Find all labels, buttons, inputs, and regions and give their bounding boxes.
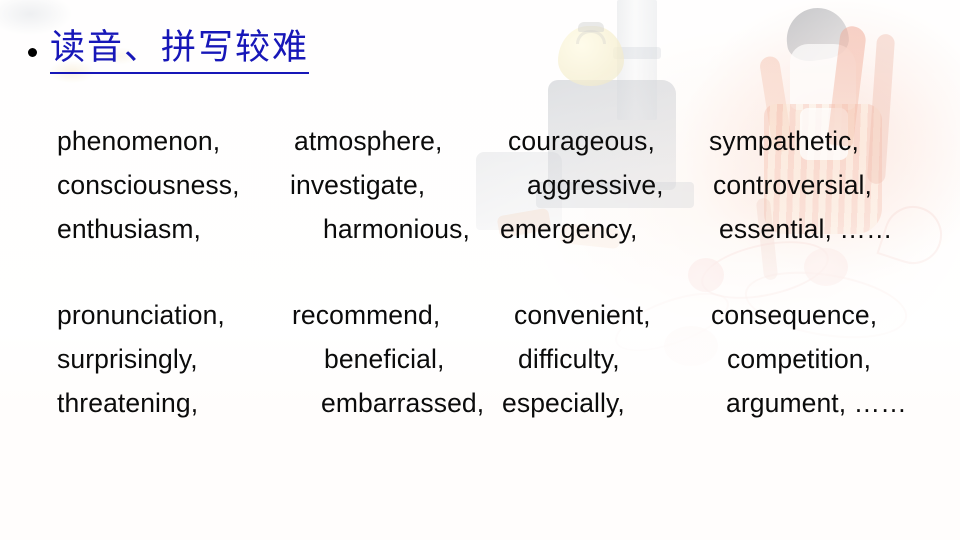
slide-heading: 读音、拼写较难	[28, 26, 309, 74]
vocab-word: pronunciation,	[57, 300, 290, 331]
person-hair-shape	[783, 4, 852, 64]
vocab-word: convenient,	[500, 300, 705, 331]
vocab-word: recommend,	[290, 300, 500, 331]
kettle-shape	[558, 26, 624, 86]
word-group-2: pronunciation, recommend, convenient, co…	[57, 300, 913, 432]
vocab-word: consciousness,	[57, 170, 290, 201]
vocab-word: courageous,	[500, 126, 705, 157]
vocab-word: aggressive,	[500, 170, 705, 201]
vocab-word: embarrassed,	[290, 388, 500, 419]
vocab-word: investigate,	[290, 170, 500, 201]
word-group-1: phenomenon, atmosphere, courageous, symp…	[57, 126, 913, 258]
vocab-word: especially,	[500, 388, 705, 419]
vocab-word: enthusiasm,	[57, 214, 290, 245]
kettle-handle-shape	[576, 30, 606, 44]
vocab-word: emergency,	[500, 214, 705, 245]
word-line: surprisingly, beneficial, difficulty, co…	[57, 344, 913, 388]
photo-fade-overlay	[0, 0, 960, 540]
word-line: pronunciation, recommend, convenient, co…	[57, 300, 913, 344]
word-line: threatening, embarrassed, especially, ar…	[57, 388, 913, 432]
vocab-word: argument, ……	[705, 388, 907, 419]
vocab-word: beneficial,	[290, 344, 500, 375]
vocab-word: threatening,	[57, 388, 290, 419]
vocab-word: essential, ……	[705, 214, 893, 245]
vocab-word: sympathetic,	[705, 126, 859, 157]
yarn-ball-1	[688, 258, 724, 292]
word-line: phenomenon, atmosphere, courageous, symp…	[57, 126, 913, 170]
vocab-word: difficulty,	[500, 344, 705, 375]
slide-canvas: 读音、拼写较难 phenomenon, atmosphere, courageo…	[0, 0, 960, 540]
vocab-word: surprisingly,	[57, 344, 290, 375]
vocab-word: atmosphere,	[290, 126, 500, 157]
word-line: enthusiasm, harmonious, emergency, essen…	[57, 214, 913, 258]
vocab-word: harmonious,	[290, 214, 500, 245]
bullet-icon	[28, 48, 37, 57]
vocab-word: consequence,	[705, 300, 877, 331]
person-shirt-shape	[790, 44, 856, 110]
page-title: 读音、拼写较难	[50, 26, 309, 74]
word-line: consciousness, investigate, aggressive, …	[57, 170, 913, 214]
vocab-word: phenomenon,	[57, 126, 290, 157]
stove-pipe-shape	[617, 0, 657, 120]
kettle-lid-shape	[578, 22, 604, 32]
vocab-word: controversial,	[705, 170, 872, 201]
background-photo	[0, 0, 960, 540]
stove-pipe-band	[613, 47, 661, 59]
vocab-word: competition,	[705, 344, 871, 375]
